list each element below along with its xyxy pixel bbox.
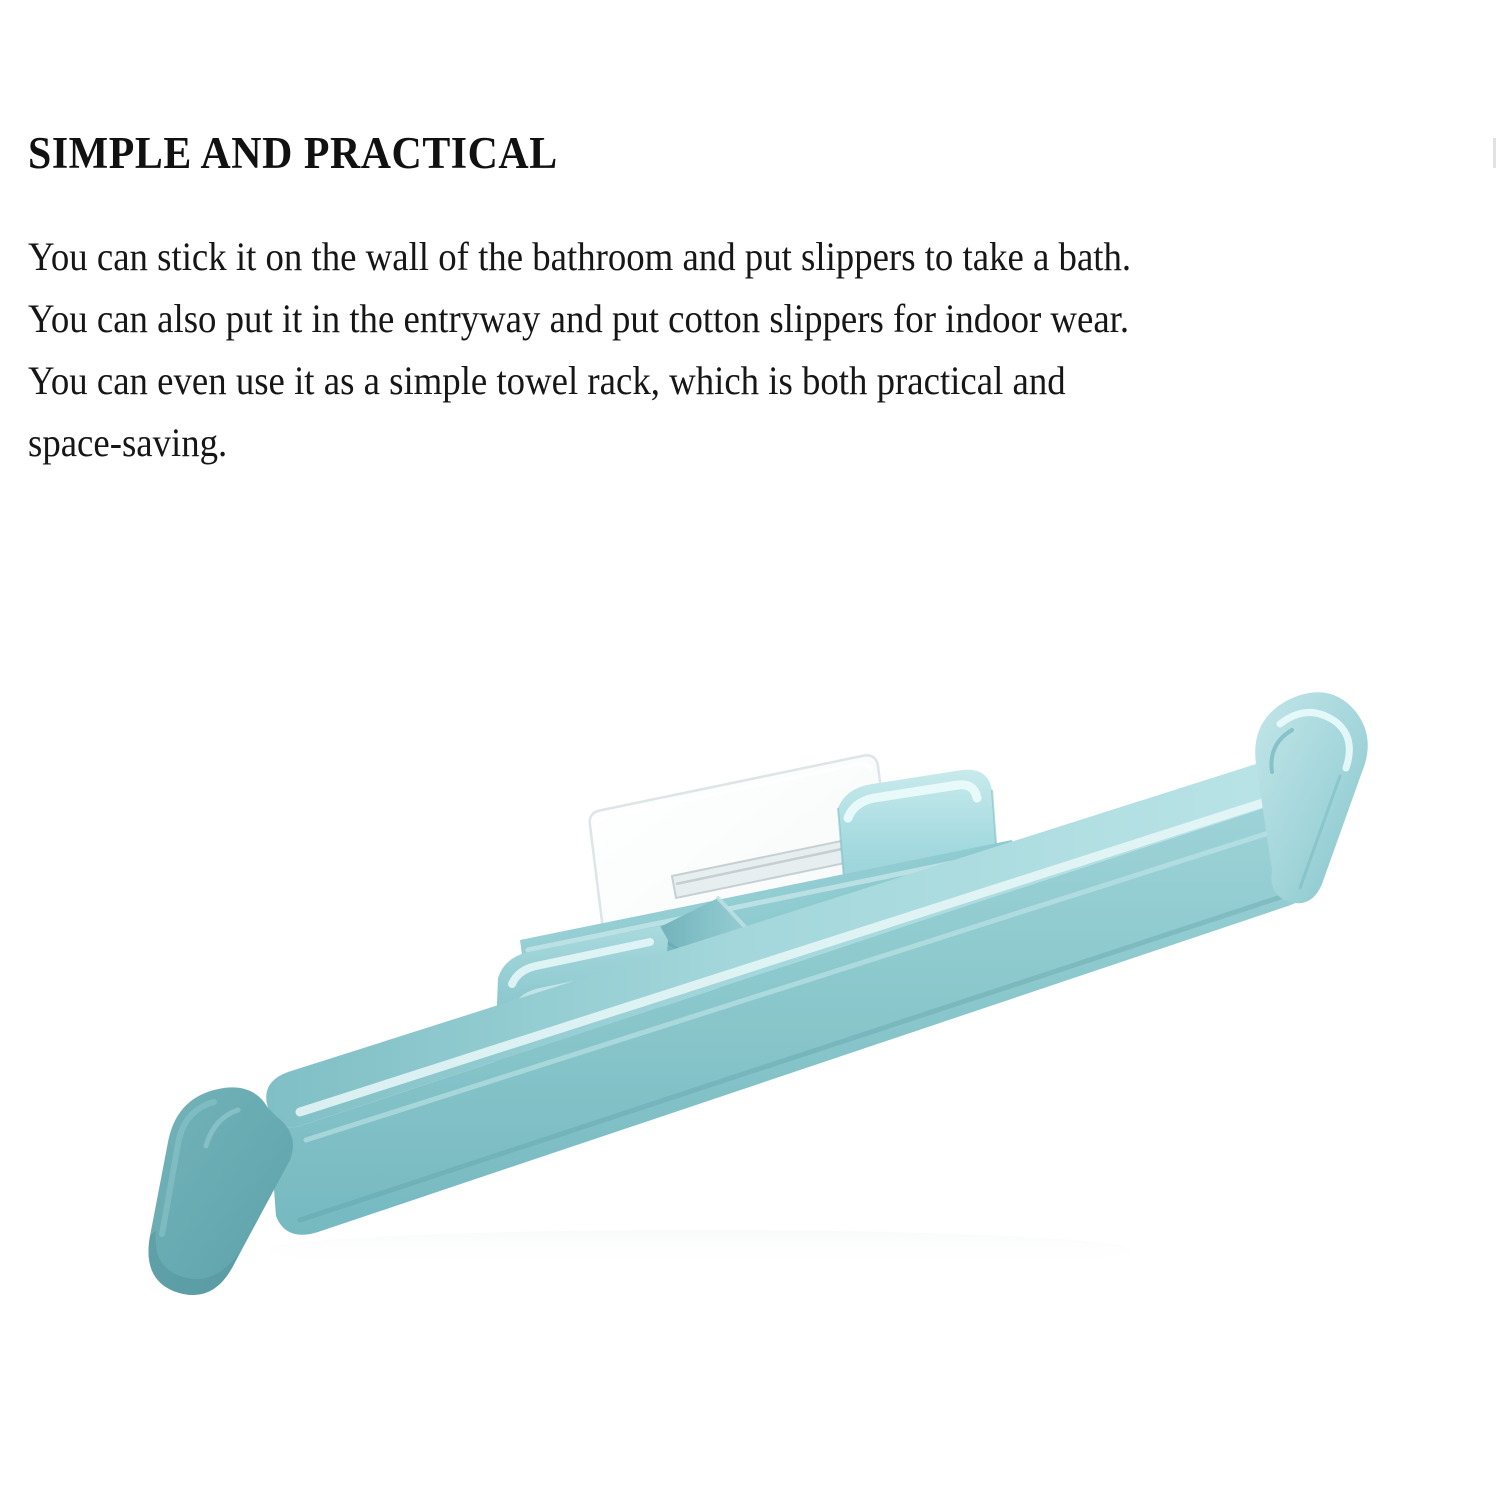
right-edge-line	[1493, 138, 1496, 168]
description-line: You can also put it in the entryway and …	[28, 288, 1426, 350]
copy-block: SIMPLE AND PRACTICAL You can stick it on…	[28, 126, 1448, 474]
description-line: space-saving.	[28, 412, 1426, 474]
description-line: You can stick it on the wall of the bath…	[28, 226, 1426, 288]
product-shadow	[270, 1230, 1130, 1270]
page-title: SIMPLE AND PRACTICAL	[28, 126, 1349, 180]
description-line: You can even use it as a simple towel ra…	[28, 350, 1426, 412]
description-paragraph: You can stick it on the wall of the bath…	[28, 226, 1426, 474]
product-image	[0, 640, 1500, 1360]
product-description-page: SIMPLE AND PRACTICAL You can stick it on…	[0, 0, 1500, 1500]
product-illustration	[0, 640, 1500, 1360]
